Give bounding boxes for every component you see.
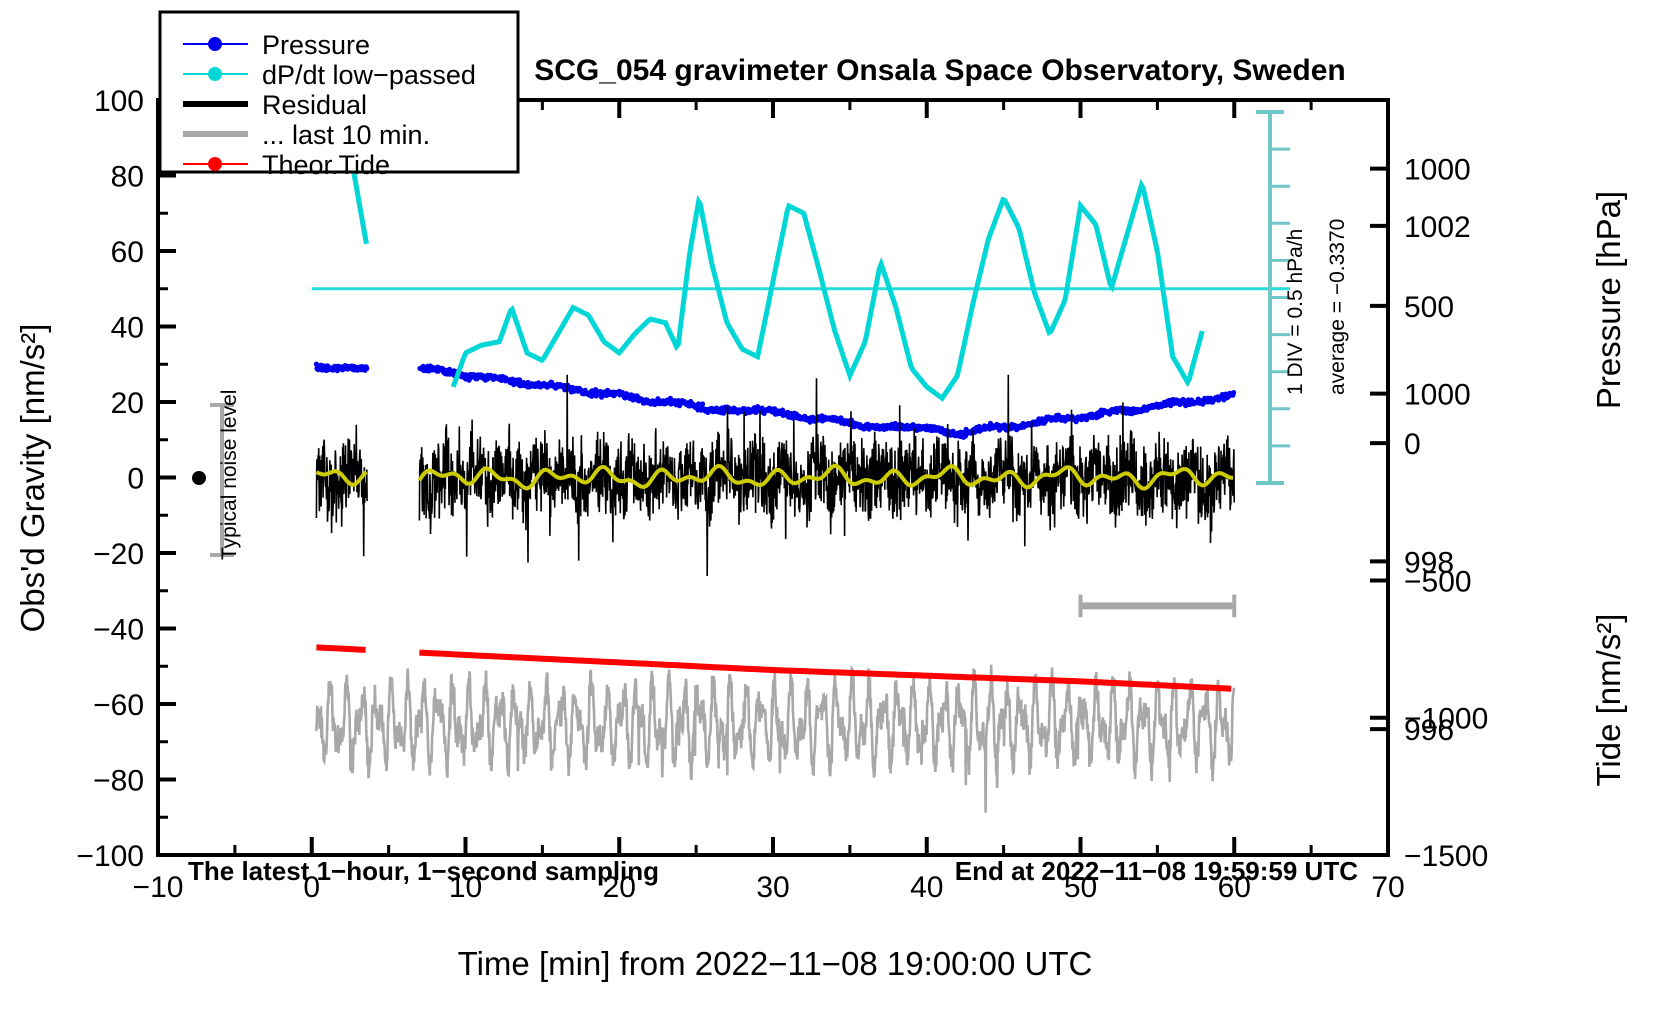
y-left-tick-label: −60 xyxy=(93,689,144,722)
legend-label: dP/dt low−passed xyxy=(262,60,476,90)
y-left-tick-label: −80 xyxy=(93,765,144,798)
chart-root: −10010203040506070100806040200−20−40−60−… xyxy=(0,0,1660,1020)
x-tick-label: 70 xyxy=(1371,871,1404,904)
x-tick-label: −10 xyxy=(133,871,184,904)
y-right-tide-tick-label: 0 xyxy=(1404,428,1421,461)
y-left-tick-label: 40 xyxy=(111,312,144,345)
typical-noise-level-label: Typical noise level xyxy=(218,390,241,560)
y-left-tick-label: 80 xyxy=(111,161,144,194)
x-tick-label: 40 xyxy=(910,871,943,904)
footer-left-text: The latest 1−hour, 1−second sampling xyxy=(188,856,659,886)
y-left-tick-label: 100 xyxy=(94,85,144,118)
dpdt-average-label: average = −0.3370 xyxy=(1326,219,1349,395)
footer-right-text: End at 2022−11−08 19:59:59 UTC xyxy=(955,856,1358,886)
y-left-tick-label: −20 xyxy=(93,538,144,571)
y-right-pressure-tick-label: 1000 xyxy=(1404,379,1471,412)
legend-label: ... last 10 min. xyxy=(262,120,430,150)
legend: PressuredP/dt low−passedResidual... last… xyxy=(160,12,518,180)
legend-label: Pressure xyxy=(262,30,370,60)
legend-label: Theor.Tide xyxy=(262,150,390,180)
y-right-tide-tick-label: −500 xyxy=(1404,565,1472,598)
y-right-tide-tick-label: −1500 xyxy=(1404,840,1488,873)
y-axis-right-bottom-title: Tide [nm/s²] xyxy=(1590,614,1627,787)
page-title: SCG_054 gravimeter Onsala Space Observat… xyxy=(534,54,1346,87)
dpdt-div-label: 1 DIV = 0.5 hPa/h xyxy=(1284,229,1307,395)
y-right-pressure-tick-label: 1002 xyxy=(1404,211,1471,244)
gravimeter-plot: −10010203040506070100806040200−20−40−60−… xyxy=(0,0,1660,1020)
x-tick-label: 30 xyxy=(756,871,789,904)
y-axis-left-title: Obs'd Gravity [nm/s²] xyxy=(14,324,51,633)
y-right-tide-tick-label: 500 xyxy=(1404,291,1454,324)
x-axis-title: Time [min] from 2022−11−08 19:00:00 UTC xyxy=(458,945,1093,982)
y-left-tick-label: −100 xyxy=(76,840,144,873)
y-left-tick-label: 20 xyxy=(111,387,144,420)
y-left-tick-label: 0 xyxy=(127,463,144,496)
y-axis-right-top-title: Pressure [hPa] xyxy=(1590,191,1627,409)
y-right-tide-tick-label: 1000 xyxy=(1404,154,1471,187)
legend-label: Residual xyxy=(262,90,367,120)
y-right-tide-tick-label: −1000 xyxy=(1404,703,1488,736)
y-left-tick-label: 60 xyxy=(111,236,144,269)
y-left-tick-label: −40 xyxy=(93,614,144,647)
series-theor-tide-1 xyxy=(316,647,365,650)
